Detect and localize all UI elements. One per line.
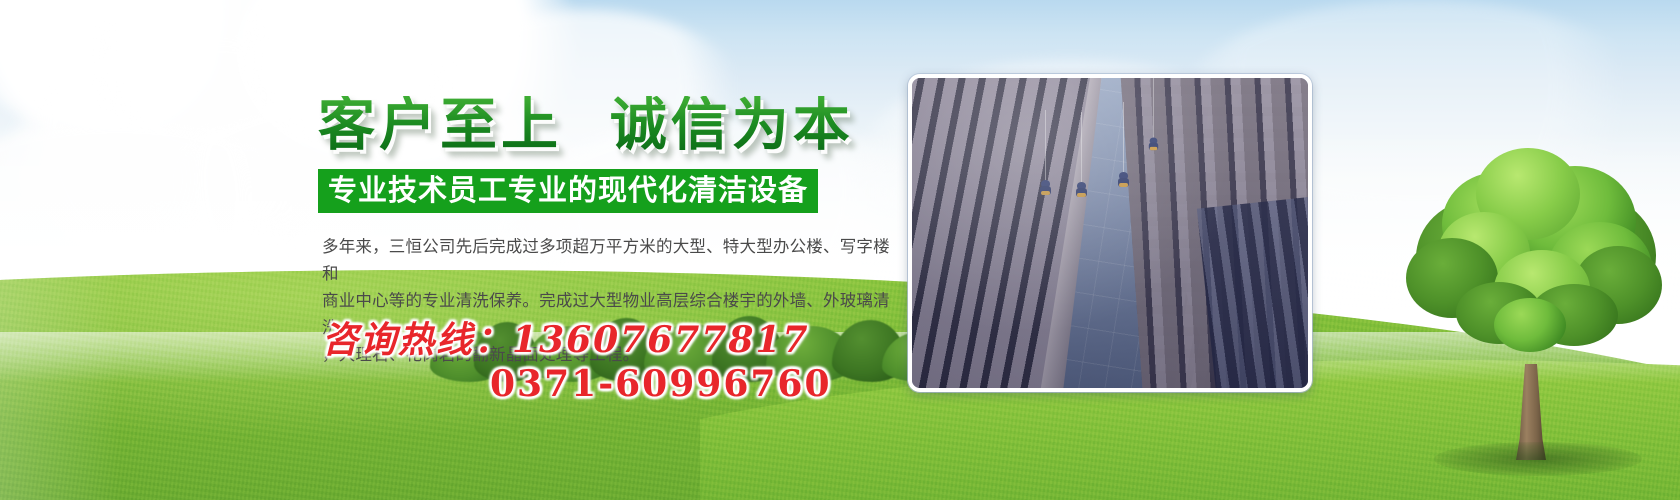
hotline-mobile-number[interactable]: 13607677817 [512, 319, 810, 361]
hotline-label: 咨询热线： [322, 319, 512, 361]
hotline-row: 咨询热线：13607677817 [322, 318, 942, 362]
contact-block: 咨询热线：13607677817 0371-60996760 [322, 318, 942, 406]
building-photo-inner [912, 78, 1308, 388]
building-photo[interactable] [908, 74, 1312, 392]
sky-blue-patch [90, 0, 370, 60]
page-title: 客户至上 诚信为本 [318, 96, 918, 153]
hotline-landline-number[interactable]: 0371-60996760 [322, 362, 942, 406]
promo-banner: 客户至上 诚信为本 专业技术员工专业的现代化清洁设备 多年来，三恒公司先后完成过… [0, 0, 1680, 500]
photo-vignette [912, 78, 1308, 388]
cloud-shape [0, 0, 290, 140]
paragraph-line: 多年来，三恒公司先后完成过多项超万平方米的大型、特大型办公楼、写字楼和 [322, 233, 897, 287]
subtitle-bar: 专业技术员工专业的现代化清洁设备 [318, 169, 818, 213]
